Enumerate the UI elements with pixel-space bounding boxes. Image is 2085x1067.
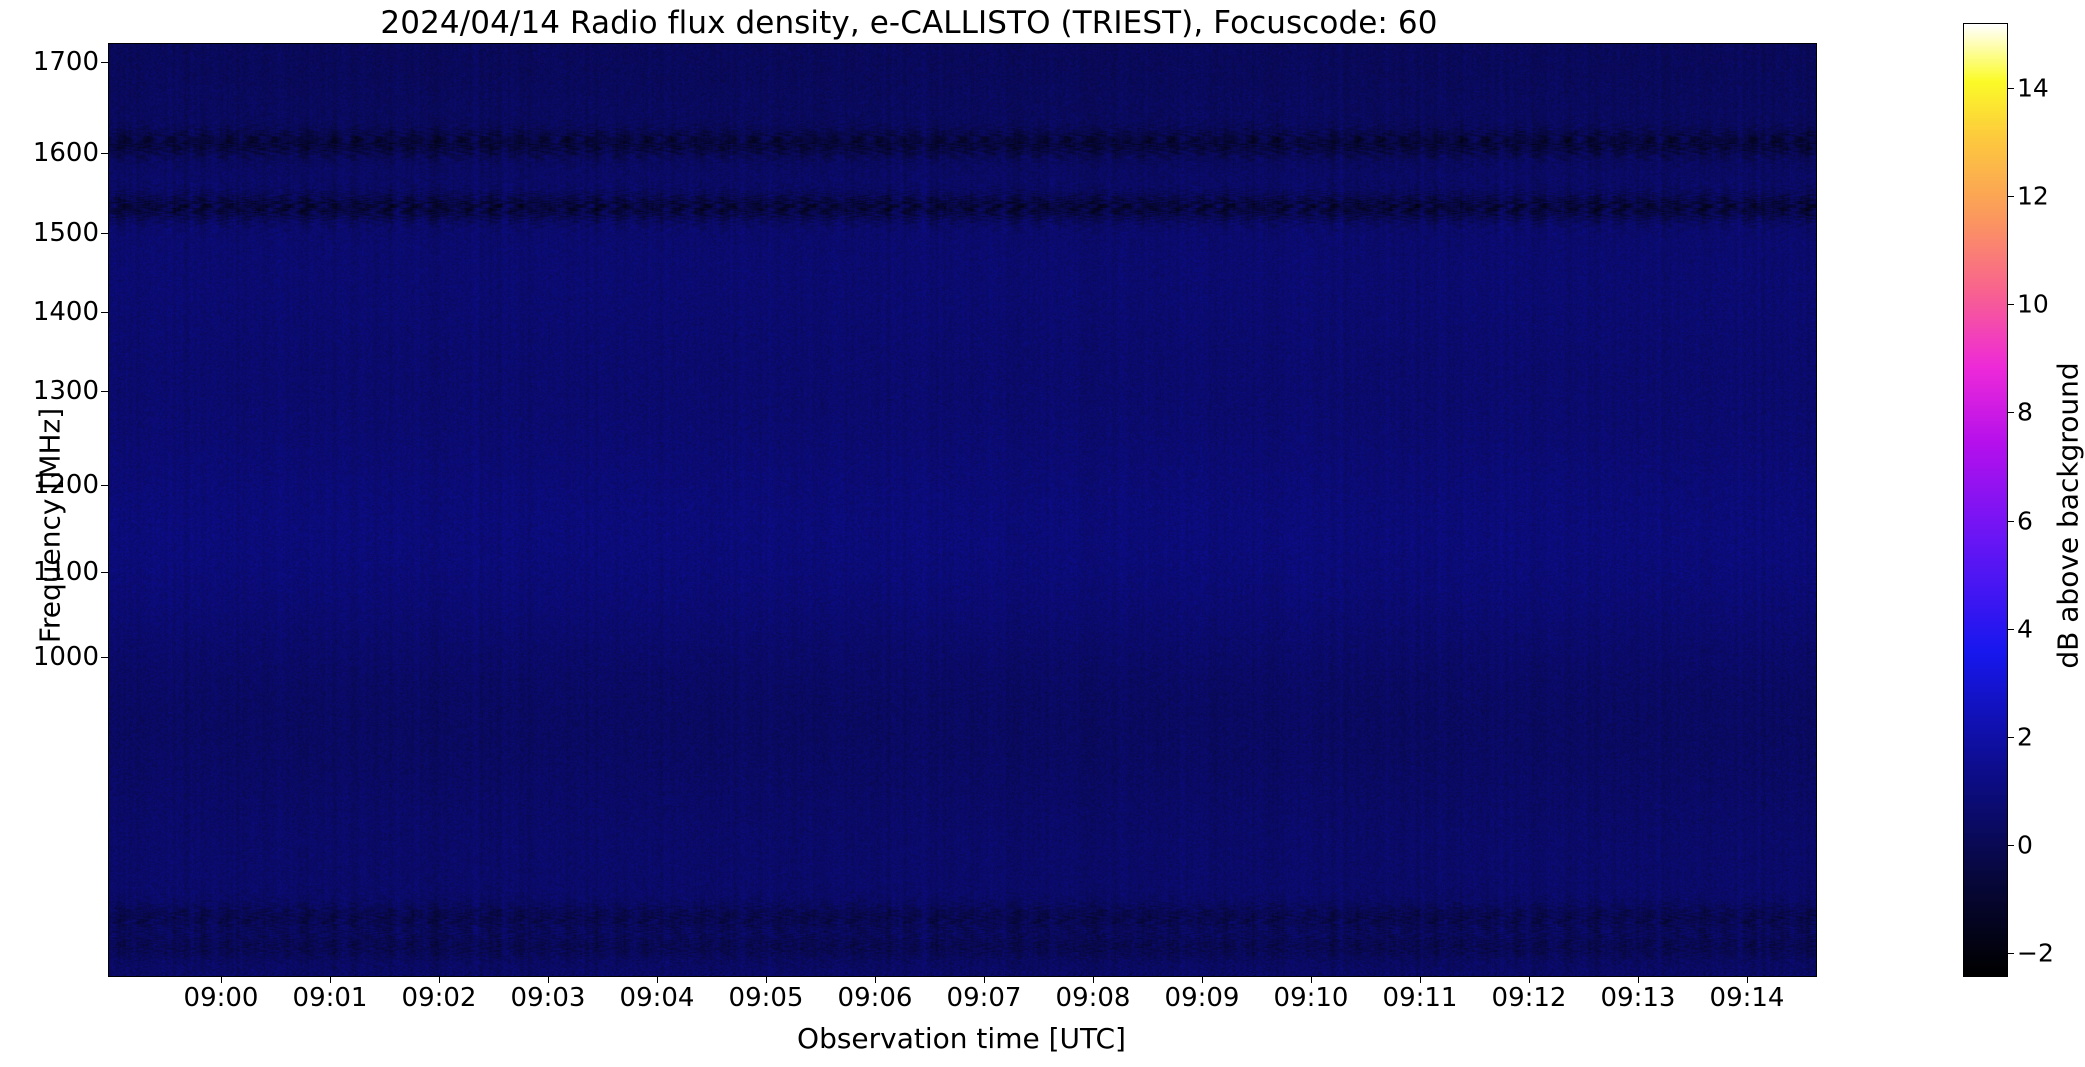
x-axis-tickmark-0910 [1311,976,1312,983]
x-axis-tickmark-0914 [1747,976,1748,983]
x-axis-tick-0900: 09:00 [184,984,259,1012]
y-axis-tick-1600: 1600 [33,140,99,166]
colorbar-tickmark-14 [2007,88,2014,89]
x-axis-tickmark-0913 [1638,976,1639,983]
y-axis-tickmark-1400 [101,312,108,313]
colorbar-tick-6: 6 [2017,508,2033,533]
x-axis-tickmark-0907 [984,976,985,983]
x-axis-tick-0914: 09:14 [1710,984,1785,1012]
y-axis-tick-1700: 1700 [33,49,99,75]
colorbar-tickmark-12 [2007,196,2014,197]
x-axis-tickmark-0905 [766,976,767,983]
x-axis-tick-0908: 09:08 [1056,984,1131,1012]
colorbar-tick-0: 0 [2017,833,2033,858]
y-axis-tickmark-1200 [101,485,108,486]
x-axis-tickmark-0908 [1093,976,1094,983]
colorbar-tickmark-6 [2007,521,2014,522]
x-axis-tick-0903: 09:03 [511,984,586,1012]
spectrogram-figure: 2024/04/14 Radio flux density, e-CALLIST… [0,0,2085,1067]
colorbar-tick-4: 4 [2017,616,2033,641]
x-axis-tickmark-0900 [221,976,222,983]
y-axis-tickmark-1500 [101,233,108,234]
colorbar-tick-2: 2 [2017,725,2033,750]
x-axis-tickmark-0911 [1420,976,1421,983]
colorbar-tick-10: 10 [2017,292,2049,317]
colorbar-tickmark-10 [2007,304,2014,305]
x-axis-tick-0904: 09:04 [620,984,695,1012]
y-axis-tickmark-1300 [101,391,108,392]
colorbar-tickmark-8 [2007,412,2014,413]
x-axis-tickmark-0903 [548,976,549,983]
colorbar-tick-14: 14 [2017,75,2049,100]
x-axis-tick-0912: 09:12 [1492,984,1567,1012]
x-axis-tick-0902: 09:02 [402,984,477,1012]
x-axis-tick-0907: 09:07 [947,984,1022,1012]
colorbar-tick-neg2: −2 [2017,941,2054,966]
x-axis-tick-0910: 09:10 [1274,984,1349,1012]
colorbar-tick-12: 12 [2017,184,2049,209]
spectrogram-image [109,44,1816,976]
x-axis-tickmark-0901 [330,976,331,983]
colorbar-tickmark-2 [2007,737,2014,738]
x-axis-tick-0911: 09:11 [1383,984,1458,1012]
y-axis-tickmark-1700 [101,62,108,63]
colorbar-gradient [1964,24,2007,976]
colorbar-tick-8: 8 [2017,400,2033,425]
x-axis-tick-0913: 09:13 [1601,984,1676,1012]
x-axis-tick-0909: 09:09 [1165,984,1240,1012]
x-axis-tick-0906: 09:06 [838,984,913,1012]
x-axis-tickmark-0906 [875,976,876,983]
x-axis-tickmark-0909 [1202,976,1203,983]
y-axis-tickmark-1100 [101,572,108,573]
x-axis-tickmark-0902 [439,976,440,983]
colorbar-tickmark-4 [2007,629,2014,630]
x-axis-tick-0905: 09:05 [729,984,804,1012]
x-axis-label: Observation time [UTC] [108,1022,1815,1055]
x-axis-tick-0901: 09:01 [293,984,368,1012]
y-axis-tickmark-1000 [101,657,108,658]
colorbar[interactable] [1963,23,2008,977]
colorbar-tickmark-neg2 [2007,953,2014,954]
colorbar-label: dB above background [2052,206,2085,826]
x-axis-tickmark-0912 [1529,976,1530,983]
figure-title: 2024/04/14 Radio flux density, e-CALLIST… [0,6,1818,40]
x-axis-tickmark-0904 [657,976,658,983]
y-axis-label: Frequency [MHz] [34,176,67,876]
spectrogram-plot-area[interactable] [108,43,1817,977]
y-axis-tickmark-1600 [101,153,108,154]
colorbar-tickmark-0 [2007,845,2014,846]
